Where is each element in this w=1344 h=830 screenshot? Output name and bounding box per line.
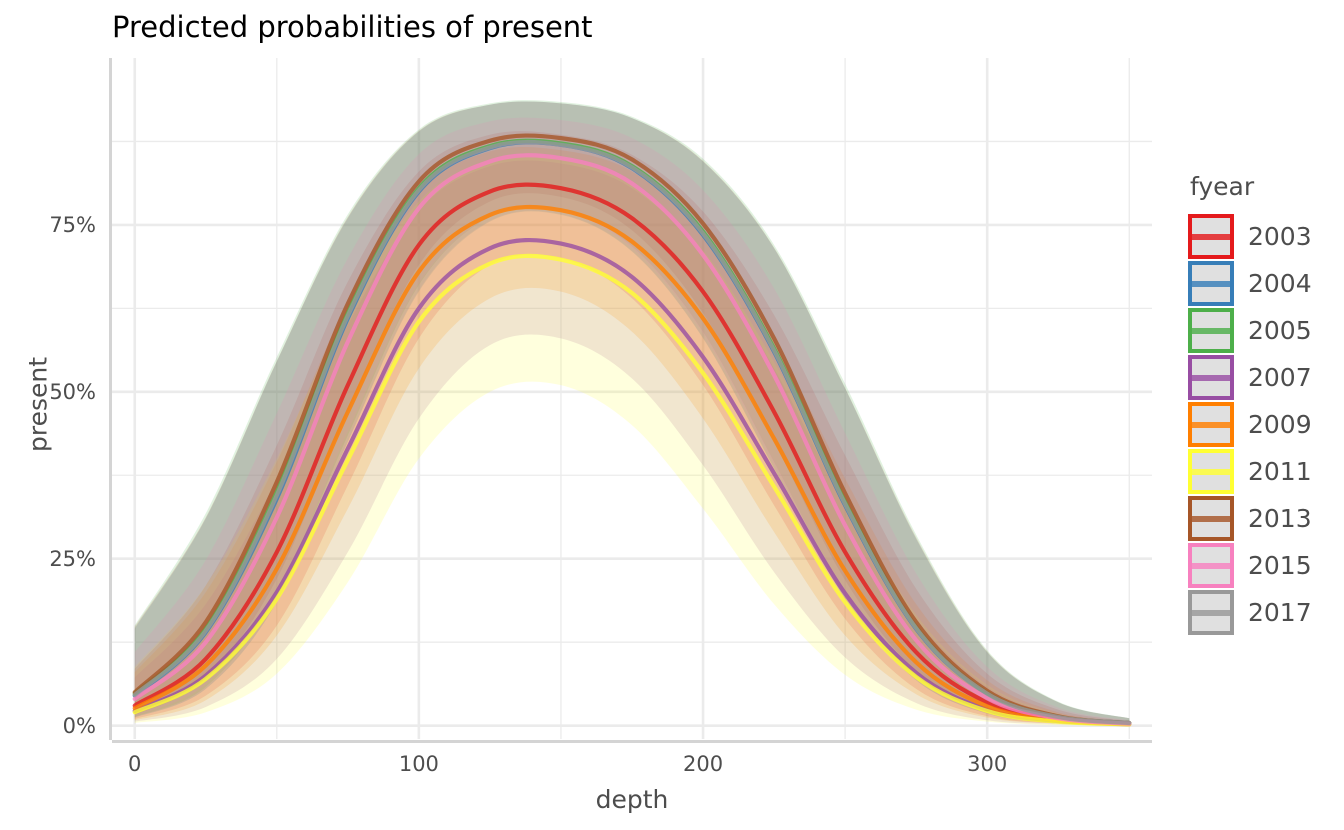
legend-key-line — [1192, 516, 1230, 522]
y-axis-title: present — [24, 305, 53, 505]
legend-item-2011[interactable]: 2011 — [1188, 448, 1312, 495]
legend-item-2009[interactable]: 2009 — [1188, 401, 1312, 448]
legend-key-swatch — [1188, 543, 1234, 588]
legend-key-swatch — [1188, 590, 1234, 635]
x-tick-label: 300 — [927, 752, 1047, 776]
legend-title: fyear — [1190, 172, 1312, 201]
y-tick-label: 25% — [0, 547, 96, 571]
legend-item-2003[interactable]: 2003 — [1188, 213, 1312, 260]
x-tick-label: 200 — [643, 752, 763, 776]
legend-label: 2015 — [1248, 551, 1312, 580]
legend-label: 2003 — [1248, 222, 1312, 251]
legend-key-line — [1192, 563, 1230, 569]
legend-item-2005[interactable]: 2005 — [1188, 307, 1312, 354]
plot-svg — [112, 58, 1152, 739]
legend-key-swatch — [1188, 402, 1234, 447]
page-title: Predicted probabilities of present — [112, 10, 593, 44]
legend-key-swatch — [1188, 496, 1234, 541]
legend-label: 2007 — [1248, 363, 1312, 392]
legend-item-2013[interactable]: 2013 — [1188, 495, 1312, 542]
legend-key-line — [1192, 234, 1230, 240]
legend-key-line — [1192, 375, 1230, 381]
y-tick-label: 0% — [0, 714, 96, 738]
x-tick-label: 0 — [75, 752, 195, 776]
legend-key-swatch — [1188, 449, 1234, 494]
legend-label: 2011 — [1248, 457, 1312, 486]
legend-key-line — [1192, 610, 1230, 616]
legend-key-swatch — [1188, 214, 1234, 259]
legend-key-swatch — [1188, 308, 1234, 353]
plot-panel — [112, 58, 1152, 739]
legend-label: 2017 — [1248, 598, 1312, 627]
legend-key-line — [1192, 328, 1230, 334]
legend-key-line — [1192, 281, 1230, 287]
confidence-ribbons — [135, 100, 1130, 725]
x-axis-line — [112, 740, 1152, 743]
x-axis-title: depth — [112, 785, 1152, 814]
y-tick-label: 75% — [0, 213, 96, 237]
legend-item-2007[interactable]: 2007 — [1188, 354, 1312, 401]
chart-page: Predicted probabilities of present 0%25%… — [0, 0, 1344, 830]
legend-item-2004[interactable]: 2004 — [1188, 260, 1312, 307]
legend-item-2015[interactable]: 2015 — [1188, 542, 1312, 589]
legend-key-line — [1192, 469, 1230, 475]
legend-item-2017[interactable]: 2017 — [1188, 589, 1312, 636]
x-tick-label: 100 — [359, 752, 479, 776]
legend-key-line — [1192, 422, 1230, 428]
y-axis-line — [109, 58, 112, 740]
legend-label: 2004 — [1248, 269, 1312, 298]
legend-label: 2013 — [1248, 504, 1312, 533]
legend-items: 200320042005200720092011201320152017 — [1188, 213, 1312, 636]
legend-label: 2009 — [1248, 410, 1312, 439]
legend: fyear 2003200420052007200920112013201520… — [1188, 172, 1312, 636]
legend-key-swatch — [1188, 355, 1234, 400]
legend-key-swatch — [1188, 261, 1234, 306]
legend-label: 2005 — [1248, 316, 1312, 345]
